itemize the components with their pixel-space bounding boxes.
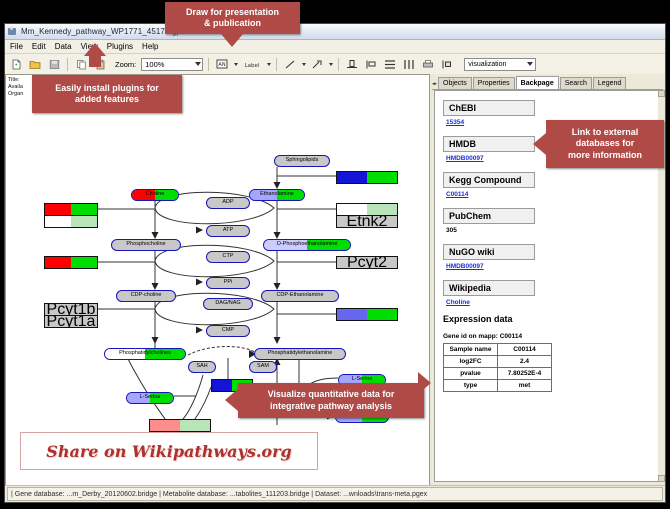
node-fill-left xyxy=(337,309,367,320)
zoom-value: 100% xyxy=(145,60,164,69)
db-wikipedia-link[interactable]: Choline xyxy=(446,299,650,306)
tab-search[interactable]: Search xyxy=(560,77,592,89)
expr-key-pvalue: pvalue xyxy=(444,368,498,380)
expression-data-heading: Expression data xyxy=(443,314,650,324)
metabolite-node-ctp[interactable]: CTP xyxy=(206,251,250,263)
gene-node-ptdss1[interactable]: Ptdss1 xyxy=(149,419,211,432)
toolbar-separator xyxy=(67,58,68,71)
node-label: CTP xyxy=(223,254,234,260)
zoom-label: Zoom: xyxy=(115,60,136,69)
node-label: ADP xyxy=(222,200,233,206)
node-label: CDP-choline xyxy=(131,293,162,299)
callout-visualize-line2: integrative pathway analysis xyxy=(270,401,392,413)
table-row: log2FC 2.4 xyxy=(444,356,552,368)
node-label: PPi xyxy=(224,280,233,286)
metabolite-node-phosphatidylethanolamine[interactable]: Phosphatidylethanolamine xyxy=(254,348,346,360)
expression-table: Sample name C00114 log2FC 2.4 pvalue 7.8… xyxy=(443,343,552,392)
metabolite-node-adp[interactable]: ADP xyxy=(206,197,250,209)
datanode-icon[interactable]: AN xyxy=(214,56,230,72)
gene-id-line: Gene id on mapp: C00114 xyxy=(443,333,650,340)
toolbar-separator xyxy=(276,58,277,71)
align-left-icon[interactable] xyxy=(363,56,379,72)
callout-visualize-arrow-right xyxy=(418,372,431,394)
db-hmdb-header: HMDB xyxy=(443,136,535,152)
node-fill-left xyxy=(45,257,71,268)
db-nugo-link[interactable]: HMDB00097 xyxy=(446,263,650,270)
expr-val-pvalue: 7.80252E-4 xyxy=(498,368,552,380)
metabolite-node-phosphatidylcholines[interactable]: Phosphatidylcholines xyxy=(104,348,186,360)
expr-val-sample-name: C00114 xyxy=(498,344,552,356)
expr-key-sample-name: Sample name xyxy=(444,344,498,356)
metabolite-node-atp[interactable]: ATP xyxy=(206,225,250,237)
visualization-value: visualization xyxy=(468,61,506,68)
node-label: CMP xyxy=(222,328,234,334)
status-bar: | Gene database: ...m_Derby_20120602.bri… xyxy=(5,485,665,502)
tab-properties[interactable]: Properties xyxy=(473,77,515,89)
chevron-down-icon[interactable] xyxy=(329,63,333,66)
gene-node-pcyt2[interactable]: Pcyt2 xyxy=(336,256,398,269)
svg-text:Label: Label xyxy=(245,63,260,69)
screenshot-root: Mm_Kennedy_pathway_WP1771_45176.gpml Fil… xyxy=(0,0,670,509)
db-nugo-header: NuGO wiki xyxy=(443,244,535,260)
chevron-down-icon[interactable] xyxy=(267,63,271,66)
node-fill-left xyxy=(45,204,71,215)
line-icon[interactable] xyxy=(282,56,298,72)
callout-draw: Draw for presentation & publication xyxy=(165,2,300,34)
align-top-icon[interactable] xyxy=(344,56,360,72)
callout-links: Link to external databases for more info… xyxy=(546,120,664,168)
node-label: Sphingolipids xyxy=(286,158,319,164)
table-row: type met xyxy=(444,380,552,392)
node-fill-left xyxy=(337,172,367,183)
db-nugo: NuGO wiki HMDB00097 xyxy=(443,242,650,270)
node-label: SAM xyxy=(257,364,269,370)
db-pubchem-value: 305 xyxy=(446,227,650,234)
callout-links-line2: databases for xyxy=(576,138,635,150)
node-label: Pcyt2 xyxy=(347,256,387,269)
callout-draw-arrow-down xyxy=(221,34,243,47)
expr-val-type: met xyxy=(498,380,552,392)
metabolite-node-cdp-choline[interactable]: CDP-choline xyxy=(116,290,176,302)
metabolite-node-ppi[interactable]: PPi xyxy=(206,277,250,289)
callout-draw-line2: & publication xyxy=(204,18,261,30)
side-panel-tabs: ◂▸ Objects Properties Backpage Search Le… xyxy=(432,76,663,90)
visualization-combobox[interactable]: visualization xyxy=(464,58,536,71)
scroll-down-button[interactable] xyxy=(658,475,665,482)
gene-node-etnk2[interactable]: Etnk2 xyxy=(336,215,398,228)
metabolite-node-o-phosphoethanolamine[interactable]: O-Phosphoethanolamine xyxy=(263,239,351,251)
svg-text:AN: AN xyxy=(219,62,226,68)
receptor-line-icon[interactable] xyxy=(309,56,325,72)
menu-item-help[interactable]: Help xyxy=(142,42,158,51)
gene-node-chkb[interactable]: Chkb xyxy=(44,203,98,216)
db-wikipedia-header: Wikipedia xyxy=(443,280,535,296)
callout-visualize-arrow-left xyxy=(225,389,238,411)
print-icon[interactable] xyxy=(420,56,436,72)
chevron-down-icon[interactable] xyxy=(234,63,238,66)
node-fill-right xyxy=(71,204,97,215)
node-fill-right xyxy=(367,172,397,183)
gene-node-etnk1[interactable]: Etnk1 xyxy=(336,203,398,216)
callout-draw-line1: Draw for presentation xyxy=(186,7,279,19)
same-height-icon[interactable] xyxy=(382,56,398,72)
node-label: Ethanolamine xyxy=(260,192,294,198)
save-icon[interactable] xyxy=(46,56,62,72)
callout-plugins-line1: Easily install plugins for xyxy=(55,83,159,95)
node-fill-right xyxy=(71,216,97,227)
title-bar: Mm_Kennedy_pathway_WP1771_45176.gpml xyxy=(5,24,665,40)
copy-icon[interactable] xyxy=(73,56,89,72)
gene-node-chka[interactable]: Chka xyxy=(44,215,98,228)
chevron-down-icon[interactable] xyxy=(302,63,306,66)
node-label: L-Serine xyxy=(352,377,373,383)
node-label: Pcyt1a xyxy=(47,315,96,328)
table-row: pvalue 7.80252E-4 xyxy=(444,368,552,380)
metabolite-node-sam[interactable]: SAM xyxy=(249,361,277,373)
metabolite-node-choline[interactable]: Choline xyxy=(131,189,179,201)
metabolite-node-cmp[interactable]: CMP xyxy=(206,325,250,337)
node-label: DAG/NAG xyxy=(215,301,240,307)
node-label: SAH xyxy=(196,364,207,370)
pathway-canvas[interactable]: Title: Availa Organ xyxy=(5,74,430,486)
node-label: ATP xyxy=(223,228,233,234)
tab-objects[interactable]: Objects xyxy=(438,77,472,89)
menu-item-plugins[interactable]: Plugins xyxy=(107,42,133,51)
new-icon[interactable] xyxy=(8,56,24,72)
expr-key-type: type xyxy=(444,380,498,392)
metabolite-node-cdp-ethanolamine[interactable]: CDP-Ethanolamine xyxy=(261,290,339,302)
callout-plugins: Easily install plugins for added feature… xyxy=(32,75,182,113)
node-label: Phosphocholine xyxy=(126,242,165,248)
label-icon[interactable]: Label xyxy=(241,56,263,72)
node-label: Choline xyxy=(146,192,165,198)
callout-visualize-line1: Visualize quantitative data for xyxy=(268,389,395,401)
pathvisio-window: Mm_Kennedy_pathway_WP1771_45176.gpml Fil… xyxy=(4,23,666,503)
gene-node-chpt1[interactable]: Chpt1 xyxy=(44,256,98,269)
callout-links-line3: more information xyxy=(568,150,642,162)
metabolite-node-l-serine[interactable]: L-Serine xyxy=(126,392,174,404)
toolbar: Zoom: 100% AN Label xyxy=(5,54,665,75)
metabolite-node-sphingolipids[interactable]: Sphingolipids xyxy=(274,155,330,167)
callout-links-arrow-left xyxy=(533,133,546,155)
node-label: Phosphatidylethanolamine xyxy=(268,351,333,357)
expr-val-log2fc: 2.4 xyxy=(498,356,552,368)
callout-plugins-line2: added features xyxy=(75,94,139,106)
expr-key-log2fc: log2FC xyxy=(444,356,498,368)
db-wikipedia: Wikipedia Choline xyxy=(443,278,650,306)
metabolite-node-sah[interactable]: SAH xyxy=(188,361,216,373)
gene-node-pcyt1a[interactable]: Pcyt1a xyxy=(44,315,98,328)
node-label: L-Serine xyxy=(140,395,161,401)
status-bar-text: | Gene database: ...m_Derby_20120602.bri… xyxy=(11,491,427,498)
db-pubchem: PubChem 305 xyxy=(443,206,650,234)
open-icon[interactable] xyxy=(27,56,43,72)
same-width-icon[interactable] xyxy=(401,56,417,72)
gene-node-cept1[interactable]: Cept1 xyxy=(336,308,398,321)
db-chebi-header: ChEBI xyxy=(443,100,535,116)
metabolite-node-dag-nag[interactable]: DAG/NAG xyxy=(203,298,253,310)
table-row: Sample name C00114 xyxy=(444,344,552,356)
share-banner: Share on Wikipathways.org xyxy=(20,432,318,470)
node-fill-right xyxy=(180,420,210,431)
callout-plugins-arrow-stem xyxy=(89,55,101,67)
node-fill-left xyxy=(45,216,71,227)
callout-visualize: Visualize quantitative data for integrat… xyxy=(238,383,424,418)
node-label: CDP-Ethanolamine xyxy=(276,293,323,299)
menu-item-edit[interactable]: Edit xyxy=(32,42,46,51)
metabolite-node-phosphocholine[interactable]: Phosphocholine xyxy=(111,239,181,251)
node-label: Phosphatidylcholines xyxy=(119,351,171,357)
metabolite-node-ethanolamine[interactable]: Ethanolamine xyxy=(249,189,305,201)
tab-backpage[interactable]: Backpage xyxy=(516,76,559,89)
node-fill-right xyxy=(367,309,397,320)
toolbar-separator xyxy=(208,58,209,71)
node-fill-left xyxy=(337,204,367,215)
gene-node-sgpl1[interactable]: Sgpl1 xyxy=(336,171,398,184)
zoom-combobox[interactable]: 100% xyxy=(141,58,203,71)
menu-item-data[interactable]: Data xyxy=(55,42,72,51)
node-label: O-Phosphoethanolamine xyxy=(277,242,338,248)
chevron-down-icon[interactable] xyxy=(527,62,533,66)
db-pubchem-header: PubChem xyxy=(443,208,535,224)
node-label: Etnk2 xyxy=(347,215,388,228)
tab-legend[interactable]: Legend xyxy=(593,77,626,89)
share-banner-text: Share on Wikipathways.org xyxy=(46,442,291,461)
app-icon xyxy=(8,27,17,36)
node-fill-right xyxy=(367,204,397,215)
status-bar-inner: | Gene database: ...m_Derby_20120602.bri… xyxy=(7,487,663,501)
db-kegg-header: Kegg Compound xyxy=(443,172,535,188)
node-fill-right xyxy=(71,257,97,268)
bring-to-front-icon[interactable] xyxy=(439,56,455,72)
menu-item-file[interactable]: File xyxy=(10,42,23,51)
scroll-up-button[interactable] xyxy=(658,90,665,97)
db-kegg: Kegg Compound C00114 xyxy=(443,170,650,198)
node-fill-left xyxy=(150,420,180,431)
callout-links-line1: Link to external xyxy=(572,127,639,139)
toolbar-separator xyxy=(338,58,339,71)
db-kegg-link[interactable]: C00114 xyxy=(446,191,650,198)
chevron-down-icon[interactable] xyxy=(195,62,201,66)
